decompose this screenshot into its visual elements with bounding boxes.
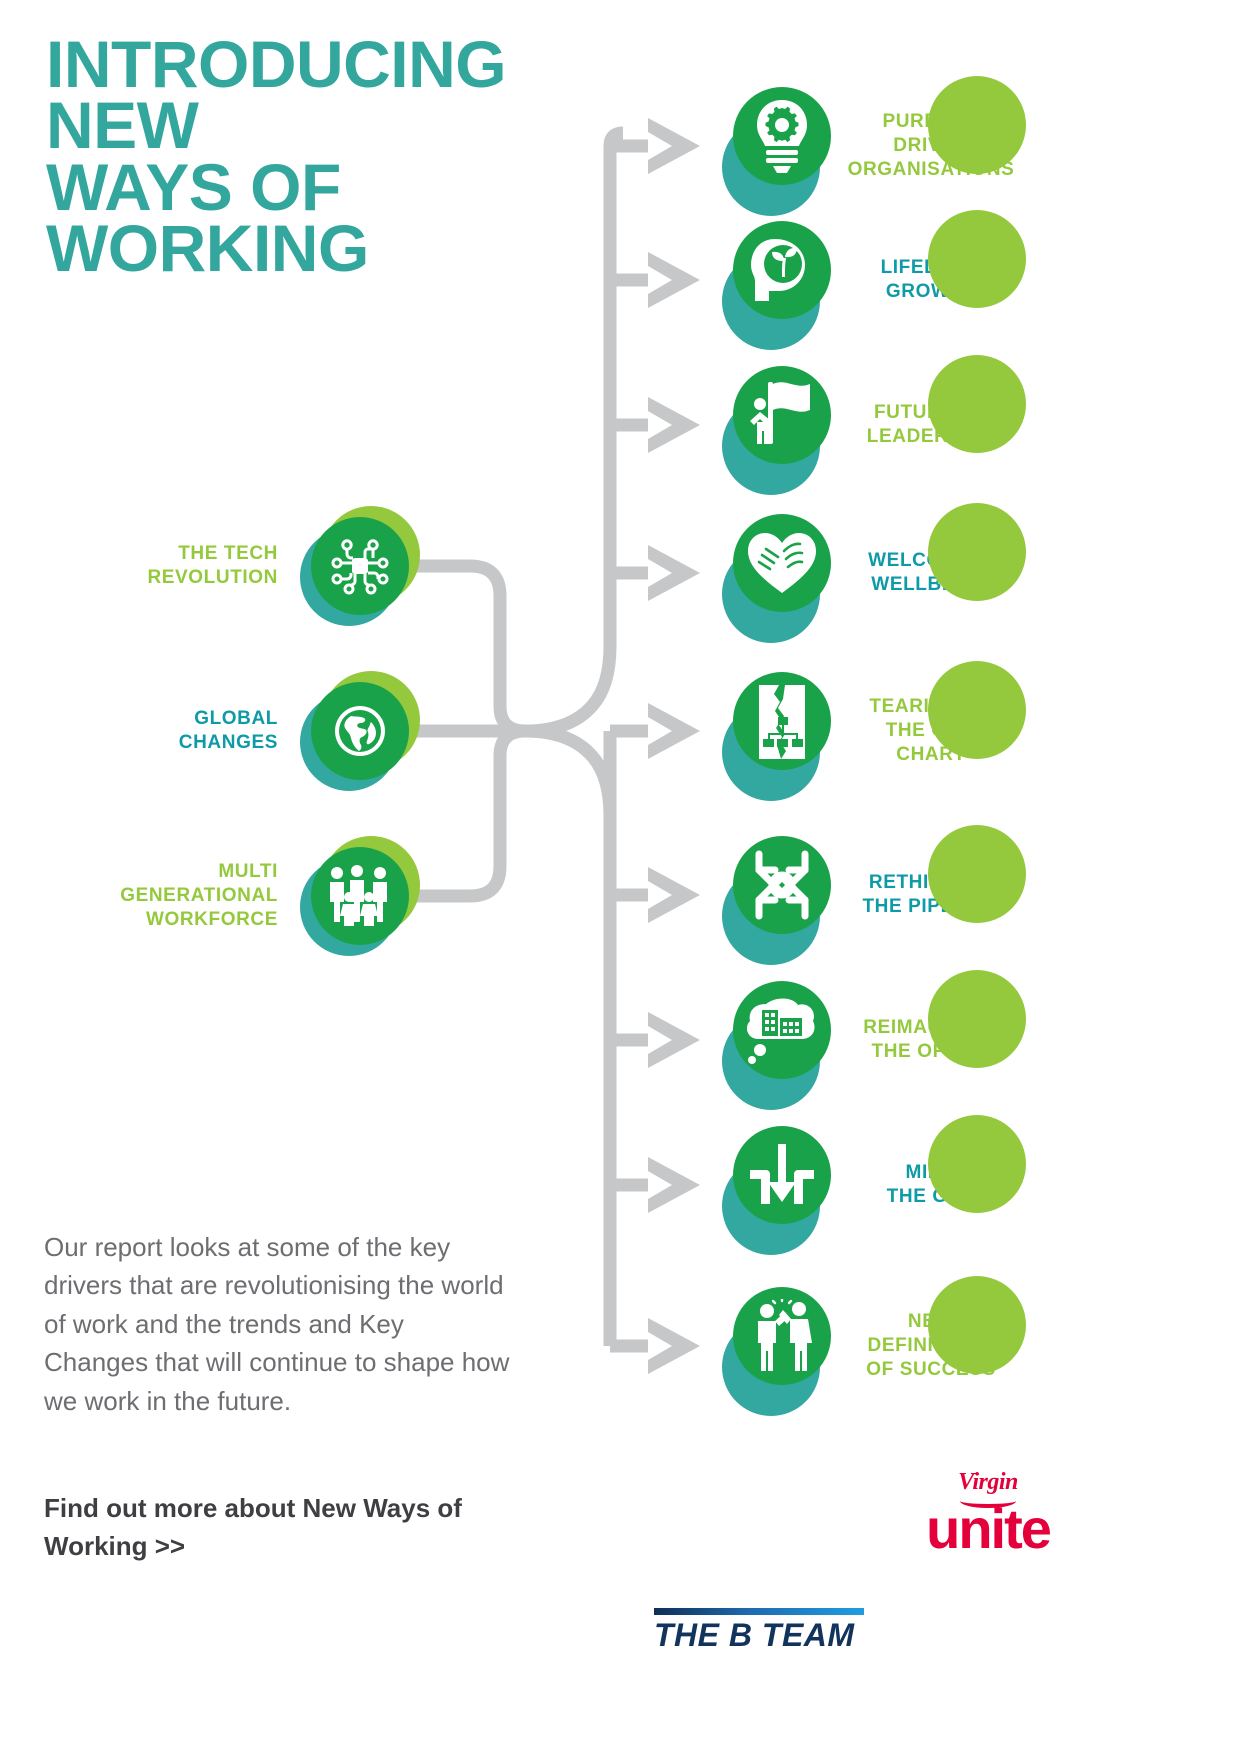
driver-badge bbox=[300, 506, 420, 626]
outcome-purpose-driven-organisations: PURPOSE DRIVEN ORGANISATIONS bbox=[722, 76, 1026, 216]
outcome-reimagining-the-office: REIMAGINING THE OFFICE bbox=[722, 970, 1026, 1110]
driver-badge bbox=[300, 836, 420, 956]
virgin-wordmark: Virgin bbox=[908, 1470, 1068, 1494]
bteam-wordmark: THE B TEAM bbox=[654, 1617, 864, 1654]
driver-the-tech-revolution: THE TECH REVOLUTION bbox=[68, 506, 420, 626]
driver-label: MULTI GENERATIONAL WORKFORCE bbox=[68, 860, 300, 931]
heart-hands-icon bbox=[733, 514, 831, 612]
down-arrow-gap-icon bbox=[733, 1126, 831, 1224]
badge-lime-circle bbox=[928, 1276, 1026, 1374]
globe-recycle-icon bbox=[311, 682, 409, 780]
driver-label: THE TECH REVOLUTION bbox=[68, 542, 300, 590]
high-five-people-icon bbox=[733, 1287, 831, 1385]
logo-the-b-team: THE B TEAM bbox=[654, 1608, 864, 1654]
badge-lime-circle bbox=[928, 355, 1026, 453]
flag-bearer-icon bbox=[733, 366, 831, 464]
driver-label: GLOBAL CHANGES bbox=[68, 707, 300, 755]
outcome-welcoming-wellbeing: WELCOMING WELLBEING bbox=[722, 503, 1026, 643]
badge-lime-circle bbox=[928, 76, 1026, 174]
outcome-future-of-leadership: FUTURE OF LEADERSHIP bbox=[722, 355, 1026, 495]
family-group-icon bbox=[311, 847, 409, 945]
bteam-rule bbox=[654, 1608, 864, 1615]
logo-virgin-unite: Virgin unite bbox=[908, 1470, 1068, 1554]
driver-global-changes: GLOBAL CHANGES bbox=[68, 671, 420, 791]
badge-lime-circle bbox=[928, 1115, 1026, 1213]
outcome-tearing-up-the-org-chart: TEARING UP THE ORG CHART bbox=[722, 661, 1026, 801]
head-sprout-icon bbox=[733, 221, 831, 319]
torn-org-chart-icon bbox=[733, 672, 831, 770]
lightbulb-gear-icon bbox=[733, 87, 831, 185]
driver-badge bbox=[300, 671, 420, 791]
badge-lime-circle bbox=[928, 825, 1026, 923]
unite-wordmark: unite bbox=[908, 1504, 1068, 1554]
body-copy: Our report looks at some of the key driv… bbox=[44, 1228, 514, 1420]
page-title: INTRODUCING NEW WAYS OF WORKING bbox=[46, 34, 606, 280]
driver-multi-generational-workforce: MULTI GENERATIONAL WORKFORCE bbox=[68, 836, 420, 956]
cycle-arrows-icon bbox=[733, 836, 831, 934]
outcome-new-definitions-of-success: NEW DEFINITIONS OF SUCCESS bbox=[722, 1276, 1026, 1416]
infographic-canvas: INTRODUCING NEW WAYS OF WORKING bbox=[0, 0, 1238, 1751]
outcome-rethinking-the-pipeline: RETHINKING THE PIPELINE bbox=[722, 825, 1026, 965]
outcome-mind-the-gap: MIND THE GAP bbox=[722, 1115, 1026, 1255]
badge-lime-circle bbox=[928, 970, 1026, 1068]
cta-link[interactable]: Find out more about New Ways of Working … bbox=[44, 1490, 514, 1565]
badge-lime-circle bbox=[928, 210, 1026, 308]
badge-lime-circle bbox=[928, 661, 1026, 759]
office-thought-cloud-icon bbox=[733, 981, 831, 1079]
badge-lime-circle bbox=[928, 503, 1026, 601]
circuit-chip-icon bbox=[311, 517, 409, 615]
outcome-lifelong-growth: LIFELONG GROWTH bbox=[722, 210, 1026, 350]
